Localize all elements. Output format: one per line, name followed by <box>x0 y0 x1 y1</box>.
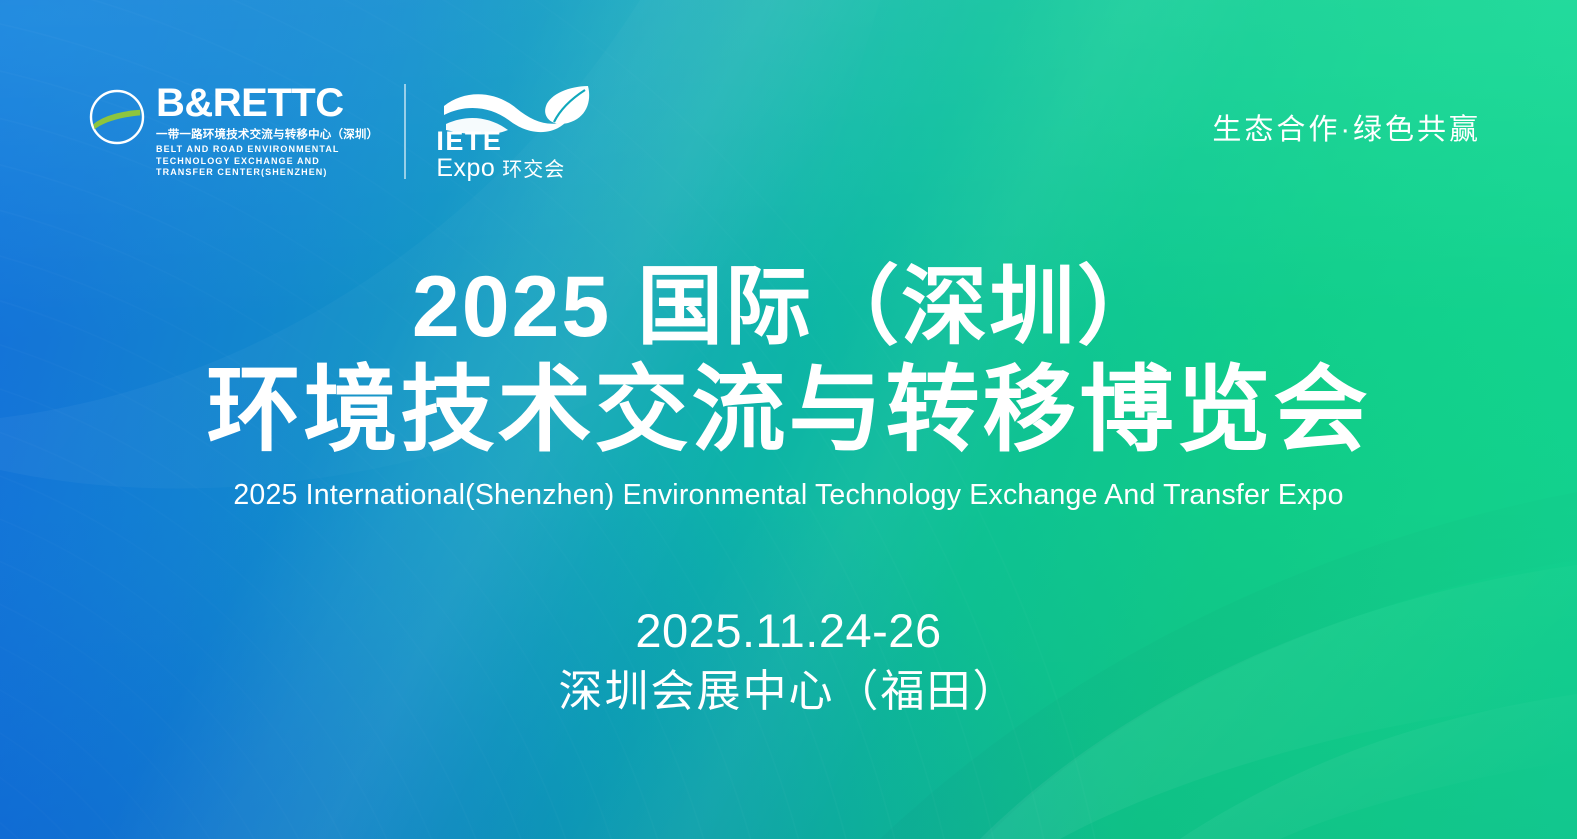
event-venue: 深圳会展中心（福田） <box>0 666 1577 719</box>
banner-content: B&RETTC 一带一路环境技术交流与转移中心（深圳） BELT AND ROA… <box>0 0 1577 839</box>
brettc-text-block: B&RETTC 一带一路环境技术交流与转移中心（深圳） BELT AND ROA… <box>156 84 378 179</box>
iete-expo-logo: IETE Expo 环交会 <box>436 84 596 179</box>
iete-expo-cn: 环交会 <box>502 160 565 180</box>
iete-sub-row: Expo 环交会 <box>436 156 565 181</box>
title-block: 2025 国际（深圳） 环境技术交流与转移博览会 2025 Internatio… <box>0 262 1577 512</box>
title-english: 2025 International(Shenzhen) Environment… <box>0 479 1577 512</box>
title-line-2: 环境技术交流与转移博览会 <box>0 359 1577 461</box>
brettc-name-en: BELT AND ROAD ENVIRONMENTAL TECHNOLOGY E… <box>156 144 356 179</box>
event-date: 2025.11.24-26 <box>0 604 1577 658</box>
brettc-wordmark: B&RETTC <box>156 84 378 123</box>
globe-circle-icon <box>88 88 146 146</box>
title-line-1: 2025 国际（深圳） <box>0 262 1577 353</box>
logo-row: B&RETTC 一带一路环境技术交流与转移中心（深圳） BELT AND ROA… <box>88 84 596 179</box>
slogan: 生态合作·绿色共赢 <box>1212 106 1481 148</box>
brettc-name-cn: 一带一路环境技术交流与转移中心（深圳） <box>156 126 378 142</box>
event-banner: B&RETTC 一带一路环境技术交流与转移中心（深圳） BELT AND ROA… <box>0 0 1577 839</box>
event-meta-block: 2025.11.24-26 深圳会展中心（福田） <box>0 604 1577 719</box>
iete-acronym: IETE <box>436 128 565 155</box>
brettc-logo: B&RETTC 一带一路环境技术交流与转移中心（深圳） BELT AND ROA… <box>88 84 406 179</box>
iete-wordmark-block: IETE Expo 环交会 <box>436 128 565 181</box>
iete-expo-word: Expo <box>436 156 495 181</box>
